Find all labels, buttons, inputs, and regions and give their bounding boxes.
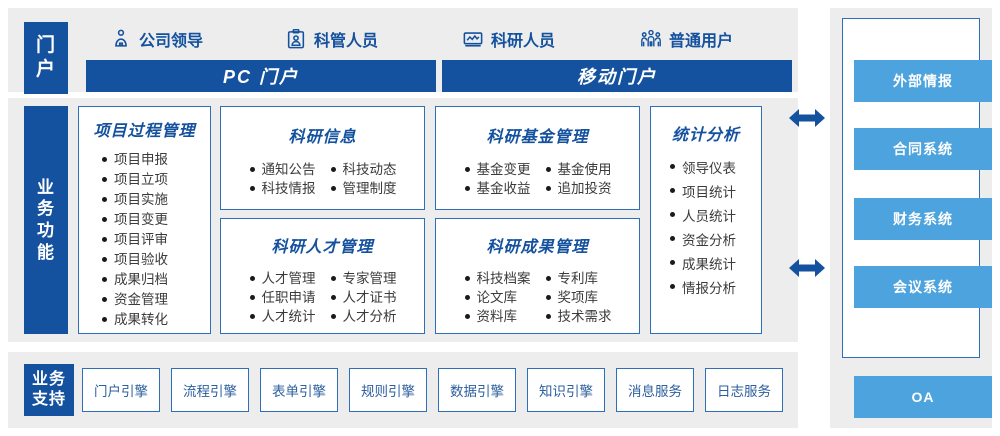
- card-item-columns: 基金变更 基金收益 基金使用 追加投资: [436, 160, 639, 198]
- pc-portal-label: PC 门户: [223, 63, 299, 89]
- business-function-section-tag: 业务功能: [24, 106, 68, 334]
- list-item[interactable]: 专家管理: [330, 269, 397, 288]
- card-title: 科研成果管理: [436, 233, 639, 257]
- card-item-list-right: 专利库 奖项库 技术需求: [545, 269, 612, 326]
- portal-tag-label: 门户: [36, 34, 56, 83]
- portal-section-tag: 门户: [24, 22, 68, 94]
- card-title: 项目过程管理: [79, 117, 210, 141]
- engine-button-form[interactable]: 表单引擎: [260, 368, 338, 412]
- engine-label: 数据引擎: [450, 380, 504, 400]
- engine-button-data[interactable]: 数据引擎: [438, 368, 516, 412]
- list-item[interactable]: 基金使用: [545, 160, 612, 179]
- list-item[interactable]: 基金收益: [464, 179, 531, 198]
- list-item[interactable]: 项目申报: [101, 150, 210, 170]
- list-item[interactable]: 科技档案: [464, 269, 531, 288]
- leader-person-icon: [110, 28, 132, 50]
- role-list: 公司领导 科管人员: [80, 22, 792, 56]
- card-research-talent-management[interactable]: 科研人才管理 人才管理 任职申请 人才统计 专家管理 人才证书 人才分析: [220, 218, 425, 334]
- card-item-list-left: 基金变更 基金收益: [464, 160, 531, 198]
- card-statistical-analysis[interactable]: 统计分析 领导仪表 项目统计 人员统计 资金分析 成果统计 情报分析: [650, 106, 762, 334]
- list-item[interactable]: 资金分析: [669, 229, 761, 253]
- portal-section: 门户 公司领导: [8, 8, 798, 92]
- external-system-button-finance[interactable]: 财务系统: [854, 198, 992, 240]
- list-item[interactable]: 成果归档: [101, 270, 210, 290]
- card-item-list-left: 人才管理 任职申请 人才统计: [249, 269, 316, 326]
- list-item[interactable]: 人才管理: [249, 269, 316, 288]
- external-system-label: 会议系统: [893, 277, 953, 297]
- card-project-process-management[interactable]: 项目过程管理 项目申报 项目立项 项目实施 项目变更 项目评审 项目验收 成果归…: [78, 106, 211, 334]
- engine-label: 知识引擎: [539, 380, 593, 400]
- list-item[interactable]: 人员统计: [669, 205, 761, 229]
- list-item[interactable]: 论文库: [464, 288, 531, 307]
- list-item[interactable]: 基金变更: [464, 160, 531, 179]
- list-item[interactable]: 项目验收: [101, 250, 210, 270]
- list-item[interactable]: 项目变更: [101, 210, 210, 230]
- card-item-columns: 人才管理 任职申请 人才统计 专家管理 人才证书 人才分析: [221, 269, 424, 326]
- external-system-button-intelligence[interactable]: 外部情报: [854, 60, 992, 102]
- external-systems-section: 外部情报 合同系统 财务系统 会议系统 OA: [830, 8, 992, 428]
- card-item-list-left: 通知公告 科技情报: [249, 160, 316, 198]
- list-item[interactable]: 科技情报: [249, 179, 316, 198]
- engine-button-log-service[interactable]: 日志服务: [705, 368, 783, 412]
- engine-button-knowledge[interactable]: 知识引擎: [527, 368, 605, 412]
- mobile-portal-label: 移动门户: [577, 63, 657, 89]
- list-item[interactable]: 领导仪表: [669, 157, 761, 181]
- list-item[interactable]: 资料库: [464, 307, 531, 326]
- engine-button-row: 门户引擎 流程引擎 表单引擎 规则引擎 数据引擎 知识引擎 消息服务 日志服务: [82, 368, 783, 412]
- list-item[interactable]: 项目评审: [101, 230, 210, 250]
- list-item[interactable]: 技术需求: [545, 307, 612, 326]
- double-arrow-icon-bottom: [788, 255, 826, 281]
- list-item[interactable]: 项目立项: [101, 170, 210, 190]
- role-label: 普通用户: [669, 27, 733, 51]
- double-arrow-icon-top: [788, 105, 826, 131]
- card-research-result-management[interactable]: 科研成果管理 科技档案 论文库 资料库 专利库 奖项库 技术需求: [435, 218, 640, 334]
- card-item-columns: 通知公告 科技情报 科技动态 管理制度: [221, 160, 424, 198]
- mobile-portal-bar[interactable]: 移动门户: [442, 60, 792, 92]
- card-title: 统计分析: [651, 121, 761, 145]
- role-label: 科管人员: [314, 27, 378, 51]
- list-item[interactable]: 追加投资: [545, 179, 612, 198]
- architecture-diagram: 门户 公司领导: [0, 0, 1000, 436]
- card-item-list: 领导仪表 项目统计 人员统计 资金分析 成果统计 情报分析: [669, 157, 761, 301]
- external-system-label: 合同系统: [893, 139, 953, 159]
- card-research-fund-management[interactable]: 科研基金管理 基金变更 基金收益 基金使用 追加投资: [435, 106, 640, 210]
- list-item[interactable]: 成果统计: [669, 253, 761, 277]
- role-item-research-admin[interactable]: 科管人员: [285, 27, 378, 51]
- chart-monitor-icon: [462, 28, 484, 50]
- id-badge-person-icon: [285, 28, 307, 50]
- external-system-label: 财务系统: [893, 209, 953, 229]
- engine-label: 门户引擎: [94, 380, 148, 400]
- list-item[interactable]: 任职申请: [249, 288, 316, 307]
- card-item-list-left: 科技档案 论文库 资料库: [464, 269, 531, 326]
- card-title: 科研人才管理: [221, 233, 424, 257]
- role-item-normal-user[interactable]: 普通用户: [640, 27, 733, 51]
- list-item[interactable]: 奖项库: [545, 288, 612, 307]
- external-system-button-oa[interactable]: OA: [854, 376, 992, 418]
- engine-button-workflow[interactable]: 流程引擎: [171, 368, 249, 412]
- external-system-button-meeting[interactable]: 会议系统: [854, 266, 992, 308]
- engine-button-rule[interactable]: 规则引擎: [349, 368, 427, 412]
- list-item[interactable]: 成果转化: [101, 310, 210, 330]
- engine-button-portal[interactable]: 门户引擎: [82, 368, 160, 412]
- card-item-list-right: 专家管理 人才证书 人才分析: [330, 269, 397, 326]
- engine-label: 表单引擎: [272, 380, 326, 400]
- list-item[interactable]: 项目实施: [101, 190, 210, 210]
- business-function-tag-label: 业务功能: [37, 177, 55, 264]
- role-item-company-leader[interactable]: 公司领导: [110, 27, 203, 51]
- business-support-tag-label: 业务支持: [31, 370, 67, 411]
- card-item-list: 项目申报 项目立项 项目实施 项目变更 项目评审 项目验收 成果归档 资金管理 …: [101, 150, 210, 330]
- list-item[interactable]: 通知公告: [249, 160, 316, 179]
- list-item[interactable]: 管理制度: [330, 179, 397, 198]
- external-system-label: 外部情报: [893, 71, 953, 91]
- list-item[interactable]: 人才分析: [330, 307, 397, 326]
- pc-portal-bar[interactable]: PC 门户: [86, 60, 436, 92]
- oa-label: OA: [912, 389, 935, 405]
- list-item[interactable]: 人才统计: [249, 307, 316, 326]
- business-support-section: 业务支持 门户引擎 流程引擎 表单引擎 规则引擎 数据引擎 知识引擎 消息服务 …: [8, 352, 798, 428]
- card-item-list-right: 基金使用 追加投资: [545, 160, 612, 198]
- list-item[interactable]: 资金管理: [101, 290, 210, 310]
- list-item[interactable]: 专利库: [545, 269, 612, 288]
- people-group-icon: [640, 28, 662, 50]
- role-label: 公司领导: [139, 27, 203, 51]
- business-support-section-tag: 业务支持: [24, 364, 74, 416]
- list-item[interactable]: 科技动态: [330, 160, 397, 179]
- list-item[interactable]: 情报分析: [669, 277, 761, 301]
- card-item-list-right: 科技动态 管理制度: [330, 160, 397, 198]
- engine-label: 消息服务: [628, 380, 682, 400]
- external-system-button-contract[interactable]: 合同系统: [854, 128, 992, 170]
- list-item[interactable]: 项目统计: [669, 181, 761, 205]
- card-research-information[interactable]: 科研信息 通知公告 科技情报 科技动态 管理制度: [220, 106, 425, 210]
- card-title: 科研信息: [221, 123, 424, 147]
- card-title: 科研基金管理: [436, 123, 639, 147]
- role-label: 科研人员: [491, 27, 555, 51]
- engine-label: 日志服务: [717, 380, 771, 400]
- engine-label: 规则引擎: [361, 380, 415, 400]
- engine-label: 流程引擎: [183, 380, 237, 400]
- role-item-researcher[interactable]: 科研人员: [462, 27, 555, 51]
- business-function-section: 业务功能 项目过程管理 项目申报 项目立项 项目实施 项目变更 项目评审 项目验…: [8, 98, 798, 342]
- engine-button-message-service[interactable]: 消息服务: [616, 368, 694, 412]
- card-item-columns: 科技档案 论文库 资料库 专利库 奖项库 技术需求: [436, 269, 639, 326]
- list-item[interactable]: 人才证书: [330, 288, 397, 307]
